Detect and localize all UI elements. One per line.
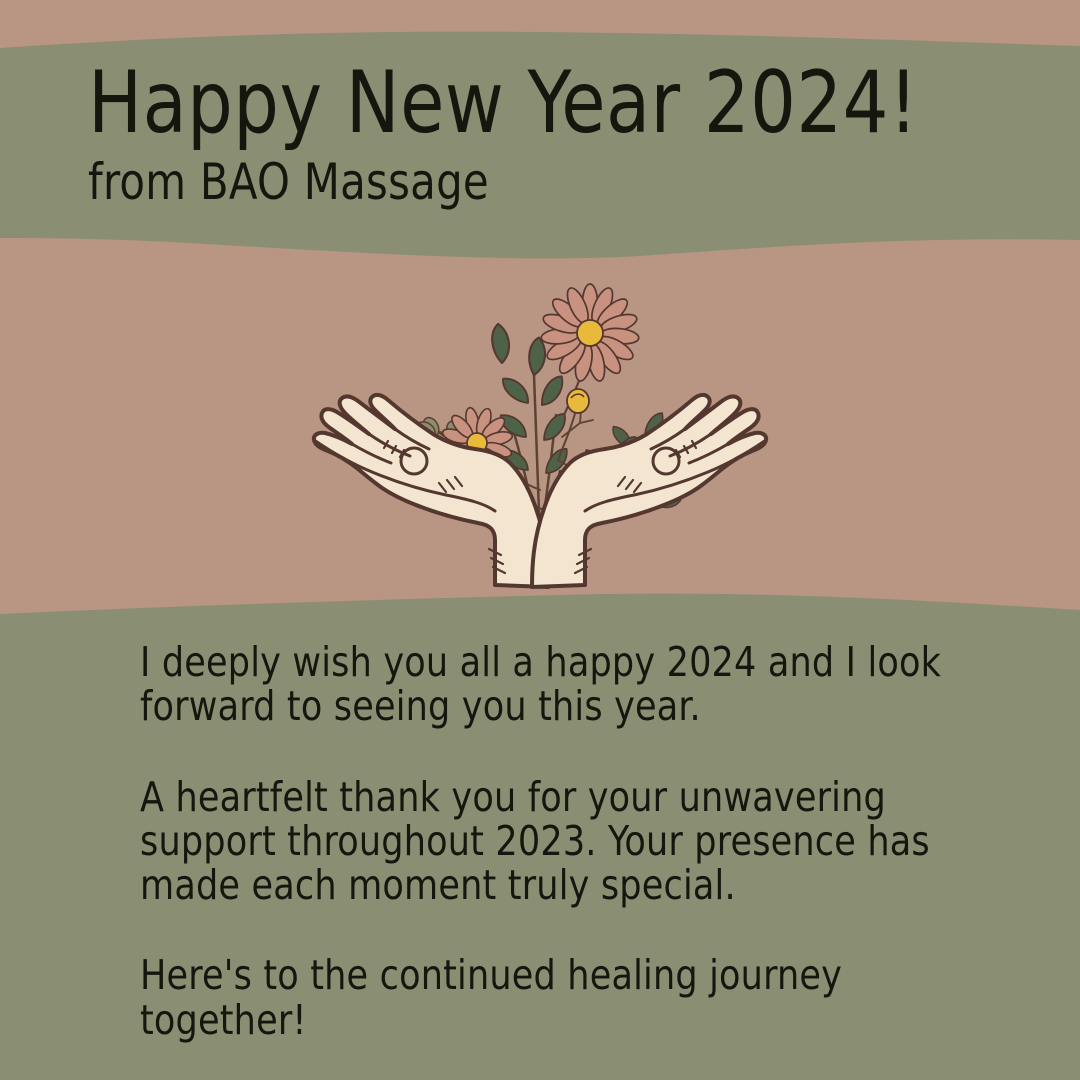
new-year-greeting-card: Happy New Year 2024! from BAO Massage: [0, 0, 1080, 1080]
header-text-block: Happy New Year 2024! from BAO Massage: [88, 60, 1008, 209]
message-paragraph-2: A heartfelt thank you for your unwaverin…: [140, 775, 948, 908]
hands-and-flowers-illustration: [290, 255, 790, 600]
page-title: Happy New Year 2024!: [88, 60, 944, 146]
message-body: I deeply wish you all a happy 2024 and I…: [140, 640, 990, 1042]
message-paragraph-1: I deeply wish you all a happy 2024 and I…: [140, 640, 948, 729]
page-subtitle: from BAO Massage: [88, 156, 944, 209]
message-paragraph-3: Here's to the continued healing journey …: [140, 953, 948, 1042]
